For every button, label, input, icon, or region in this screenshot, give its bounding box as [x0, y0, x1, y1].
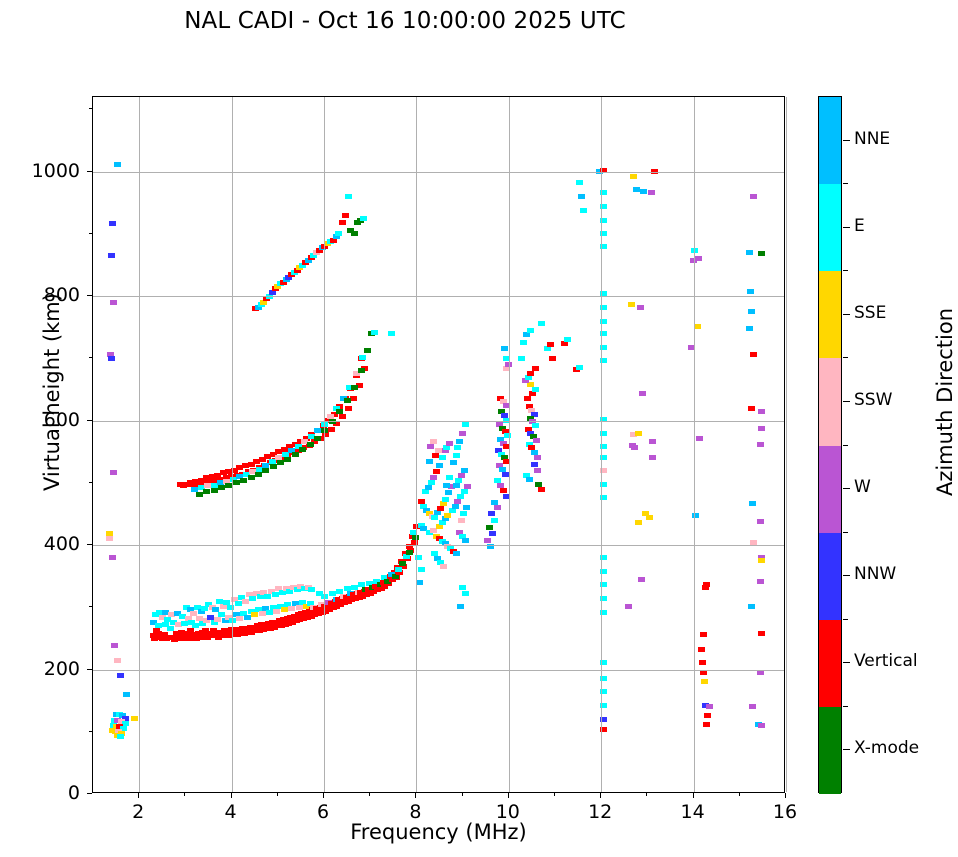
data-point	[527, 328, 534, 333]
data-point	[431, 515, 438, 520]
data-point	[264, 594, 271, 599]
data-point	[299, 447, 306, 452]
data-point	[750, 352, 757, 357]
y-tick	[87, 544, 92, 545]
data-point	[251, 612, 258, 617]
data-point	[259, 611, 266, 616]
data-point	[430, 475, 437, 480]
data-point	[114, 162, 121, 167]
data-point	[433, 469, 440, 474]
data-point	[308, 587, 315, 592]
data-point	[455, 478, 462, 483]
colorbar-segment-vertical	[819, 620, 841, 707]
data-point	[440, 564, 447, 569]
data-point	[440, 501, 447, 506]
x-tick	[600, 793, 601, 798]
gridline-vertical	[601, 97, 602, 792]
data-point	[628, 302, 635, 307]
x-tick-minor	[739, 793, 740, 796]
x-tick	[323, 793, 324, 798]
data-point	[580, 208, 587, 213]
data-point	[461, 468, 468, 473]
data-point	[345, 194, 352, 199]
data-point	[698, 647, 705, 652]
data-point	[339, 220, 346, 225]
data-point	[436, 463, 443, 468]
data-point	[699, 660, 706, 665]
y-tick	[87, 295, 92, 296]
x-axis-title: Frequency (MHz)	[92, 820, 785, 844]
y-tick-minor	[89, 233, 92, 234]
data-point	[533, 438, 540, 443]
data-point	[637, 305, 644, 310]
data-point	[106, 536, 113, 541]
data-point	[109, 221, 116, 226]
x-tick-minor	[369, 793, 370, 796]
data-point	[211, 488, 218, 493]
data-point	[426, 459, 433, 464]
gridline-horizontal	[93, 421, 784, 422]
colorbar-label-ssw: SSW	[854, 390, 892, 410]
data-point	[758, 558, 765, 563]
data-point	[532, 387, 539, 392]
data-point	[456, 439, 463, 444]
data-point	[462, 591, 469, 596]
data-point	[649, 439, 656, 444]
data-point	[746, 326, 753, 331]
data-point	[240, 478, 247, 483]
data-point	[435, 448, 442, 453]
data-point	[459, 585, 466, 590]
x-tick	[231, 793, 232, 798]
data-point	[329, 591, 336, 596]
data-point	[344, 398, 351, 403]
gridline-horizontal	[93, 172, 784, 173]
data-point	[747, 289, 754, 294]
x-tick	[693, 793, 694, 798]
gridline-vertical	[324, 97, 325, 792]
data-point	[501, 346, 508, 351]
data-point	[494, 505, 501, 510]
colorbar-boundary-tick	[843, 619, 848, 620]
colorbar-boundary-tick	[843, 445, 848, 446]
colorbar-boundary-tick	[843, 706, 848, 707]
data-point	[450, 460, 457, 465]
data-point	[371, 330, 378, 335]
data-point	[518, 356, 525, 361]
colorbar-tick	[843, 140, 850, 141]
data-point	[547, 342, 554, 347]
data-point	[461, 489, 468, 494]
data-point	[181, 621, 188, 626]
data-point	[399, 561, 406, 566]
data-point	[123, 692, 130, 697]
data-point	[262, 468, 269, 473]
data-point	[444, 513, 451, 518]
colorbar-tick	[843, 749, 850, 750]
data-point	[236, 616, 243, 621]
colorbar-boundary-tick	[843, 532, 848, 533]
data-point	[235, 601, 242, 606]
data-point	[527, 371, 534, 376]
data-point	[350, 396, 357, 401]
data-point	[625, 604, 632, 609]
data-point	[462, 538, 469, 543]
data-point	[564, 337, 571, 342]
ionogram-figure: NAL CADI - Oct 16 10:00:00 2025 UTC 2468…	[0, 0, 958, 857]
data-point	[114, 658, 121, 663]
data-point	[314, 436, 321, 441]
data-point	[446, 441, 453, 446]
data-point	[131, 716, 138, 721]
data-point	[272, 592, 279, 597]
data-point	[486, 525, 493, 530]
data-point	[439, 455, 446, 460]
colorbar-label-nne: NNE	[854, 129, 890, 149]
data-point	[502, 472, 509, 477]
data-point	[635, 431, 642, 436]
data-point	[639, 391, 646, 396]
data-point	[649, 455, 656, 460]
data-point	[463, 505, 470, 510]
data-point	[443, 445, 450, 450]
data-point	[520, 340, 527, 345]
data-point	[432, 453, 439, 458]
colorbar-segment-nnw	[819, 533, 841, 620]
data-point	[453, 453, 460, 458]
data-point	[460, 511, 467, 516]
data-point	[758, 426, 765, 431]
data-point	[524, 396, 531, 401]
y-tick-minor	[89, 606, 92, 607]
colorbar-segment-w	[819, 446, 841, 533]
colorbar-label-nnw: NNW	[854, 564, 896, 584]
data-point	[270, 464, 277, 469]
data-point	[192, 623, 199, 628]
data-point	[255, 472, 262, 477]
data-point	[351, 231, 358, 236]
x-tick-minor	[462, 793, 463, 796]
gridline-vertical	[694, 97, 695, 792]
colorbar-segment-e	[819, 184, 841, 271]
data-point	[635, 520, 642, 525]
data-point	[458, 518, 465, 523]
gridline-vertical	[509, 97, 510, 792]
data-point	[646, 515, 653, 520]
data-point	[214, 617, 221, 622]
data-point	[430, 439, 437, 444]
data-point	[110, 300, 117, 305]
data-point	[694, 324, 701, 329]
data-point	[757, 579, 764, 584]
x-tick	[415, 793, 416, 798]
data-point	[702, 585, 709, 590]
data-point	[748, 406, 755, 411]
data-point	[111, 643, 118, 648]
data-point	[249, 596, 256, 601]
x-tick	[508, 793, 509, 798]
x-tick-minor	[554, 793, 555, 796]
y-tick	[87, 793, 92, 794]
data-point	[488, 511, 495, 516]
data-point	[284, 457, 291, 462]
colorbar-segment-ssw	[819, 358, 841, 445]
data-point	[758, 631, 765, 636]
data-point	[704, 713, 711, 718]
colorbar-tick	[843, 401, 850, 402]
x-tick-minor	[277, 793, 278, 796]
data-point	[117, 734, 124, 739]
data-point	[358, 368, 365, 373]
data-point	[750, 194, 757, 199]
data-point	[395, 567, 402, 572]
data-point	[534, 455, 541, 460]
y-tick-minor	[89, 357, 92, 358]
data-point	[531, 462, 538, 467]
data-point	[406, 550, 413, 555]
data-point	[749, 501, 756, 506]
data-point	[695, 256, 702, 261]
y-axis-title: Virtual height (km)	[40, 242, 64, 542]
data-point	[532, 423, 539, 428]
data-point	[453, 483, 460, 488]
data-point	[443, 483, 450, 488]
data-point	[534, 468, 541, 473]
data-point	[454, 499, 461, 504]
data-point	[442, 497, 449, 502]
gridline-horizontal	[93, 296, 784, 297]
gridline-vertical	[786, 97, 787, 792]
data-point	[549, 356, 556, 361]
data-point	[233, 480, 240, 485]
data-point	[342, 213, 349, 218]
data-point	[757, 519, 764, 524]
data-point	[452, 504, 459, 509]
x-tick	[785, 793, 786, 798]
data-point	[453, 551, 460, 556]
data-point	[630, 174, 637, 179]
data-point	[108, 356, 115, 361]
gridline-horizontal	[93, 670, 784, 671]
data-point	[703, 722, 710, 727]
data-point	[336, 409, 343, 414]
figure-title: NAL CADI - Oct 16 10:00:00 2025 UTC	[0, 8, 810, 34]
data-point	[328, 427, 335, 432]
data-point	[359, 355, 366, 360]
data-point	[576, 365, 583, 370]
data-point	[757, 442, 764, 447]
data-point	[489, 531, 496, 536]
colorbar	[818, 96, 842, 793]
colorbar-boundary-tick	[843, 357, 848, 358]
data-point	[351, 385, 358, 390]
colorbar-tick	[843, 575, 850, 576]
data-point	[335, 231, 342, 236]
data-point	[576, 180, 583, 185]
y-tick-label: 1000	[10, 160, 80, 182]
colorbar-label-e: E	[854, 216, 865, 236]
data-point	[578, 194, 585, 199]
data-point	[281, 607, 288, 612]
colorbar-label-x-mode: X-mode	[854, 738, 919, 758]
gridline-vertical	[232, 97, 233, 792]
data-point	[629, 443, 636, 448]
colorbar-tick	[843, 662, 850, 663]
y-tick	[87, 420, 92, 421]
data-point	[701, 679, 708, 684]
data-point	[462, 422, 469, 427]
data-point	[640, 189, 647, 194]
x-tick-minor	[646, 793, 647, 796]
data-point	[242, 599, 249, 604]
data-point	[491, 518, 498, 523]
data-point	[266, 610, 273, 615]
gridline-vertical	[416, 97, 417, 792]
data-point	[248, 475, 255, 480]
data-point	[364, 348, 371, 353]
colorbar-label-sse: SSE	[854, 303, 886, 323]
data-point	[345, 406, 352, 411]
data-point	[457, 494, 464, 499]
colorbar-boundary-tick	[843, 183, 848, 184]
data-point	[427, 444, 434, 449]
data-point	[464, 484, 471, 489]
y-tick	[87, 669, 92, 670]
data-point	[500, 488, 507, 493]
data-point	[700, 632, 707, 637]
data-point	[638, 577, 645, 582]
data-point	[746, 250, 753, 255]
data-point	[445, 490, 452, 495]
x-tick-minor	[184, 793, 185, 796]
data-point	[538, 487, 545, 492]
y-tick-minor	[89, 108, 92, 109]
gridline-vertical	[139, 97, 140, 792]
data-point	[117, 673, 124, 678]
data-point	[446, 475, 453, 480]
colorbar-label-w: W	[854, 477, 871, 497]
data-point	[696, 436, 703, 441]
y-tick-minor	[89, 482, 92, 483]
data-point	[437, 506, 444, 511]
data-point	[648, 190, 655, 195]
data-point	[108, 253, 115, 258]
data-point	[758, 251, 765, 256]
data-point	[339, 414, 346, 419]
data-point	[273, 609, 280, 614]
data-point	[458, 473, 465, 478]
y-tick-label: 200	[10, 658, 80, 680]
data-point	[203, 489, 210, 494]
data-points-layer	[93, 97, 784, 792]
data-point	[706, 704, 713, 709]
colorbar-segment-x-mode	[819, 707, 841, 794]
colorbar-title: Azimuth Direction	[933, 252, 957, 552]
data-point	[109, 555, 116, 560]
colorbar-segment-sse	[819, 271, 841, 358]
data-point	[110, 470, 117, 475]
data-point	[307, 442, 314, 447]
data-point	[532, 366, 539, 371]
colorbar-label-vertical: Vertical	[854, 651, 918, 671]
data-point	[292, 452, 299, 457]
colorbar-tick	[843, 488, 850, 489]
data-point	[749, 704, 756, 709]
x-tick	[138, 793, 139, 798]
data-point	[526, 477, 533, 482]
y-tick-minor	[89, 731, 92, 732]
data-point	[244, 615, 251, 620]
data-point	[454, 445, 461, 450]
data-point	[277, 460, 284, 465]
colorbar-tick	[843, 314, 850, 315]
data-point	[538, 321, 545, 326]
data-point	[218, 485, 225, 490]
data-point	[428, 480, 435, 485]
data-point	[459, 431, 466, 436]
data-point	[748, 309, 755, 314]
colorbar-boundary-tick	[843, 270, 848, 271]
data-point	[196, 492, 203, 497]
data-point	[418, 567, 425, 572]
data-point	[425, 485, 432, 490]
data-point	[633, 187, 640, 192]
y-tick	[87, 171, 92, 172]
data-point	[758, 723, 765, 728]
colorbar-segment-nne	[819, 97, 841, 184]
data-point	[288, 606, 295, 611]
y-tick-label: 0	[10, 782, 80, 804]
data-point	[314, 428, 321, 433]
plot-area	[92, 96, 785, 793]
data-point	[748, 604, 755, 609]
data-point	[218, 612, 225, 617]
data-point	[388, 331, 395, 336]
gridline-horizontal	[93, 545, 784, 546]
data-point	[457, 604, 464, 609]
data-point	[758, 409, 765, 414]
data-point	[360, 216, 367, 221]
data-point	[484, 538, 491, 543]
colorbar-tick	[843, 227, 850, 228]
